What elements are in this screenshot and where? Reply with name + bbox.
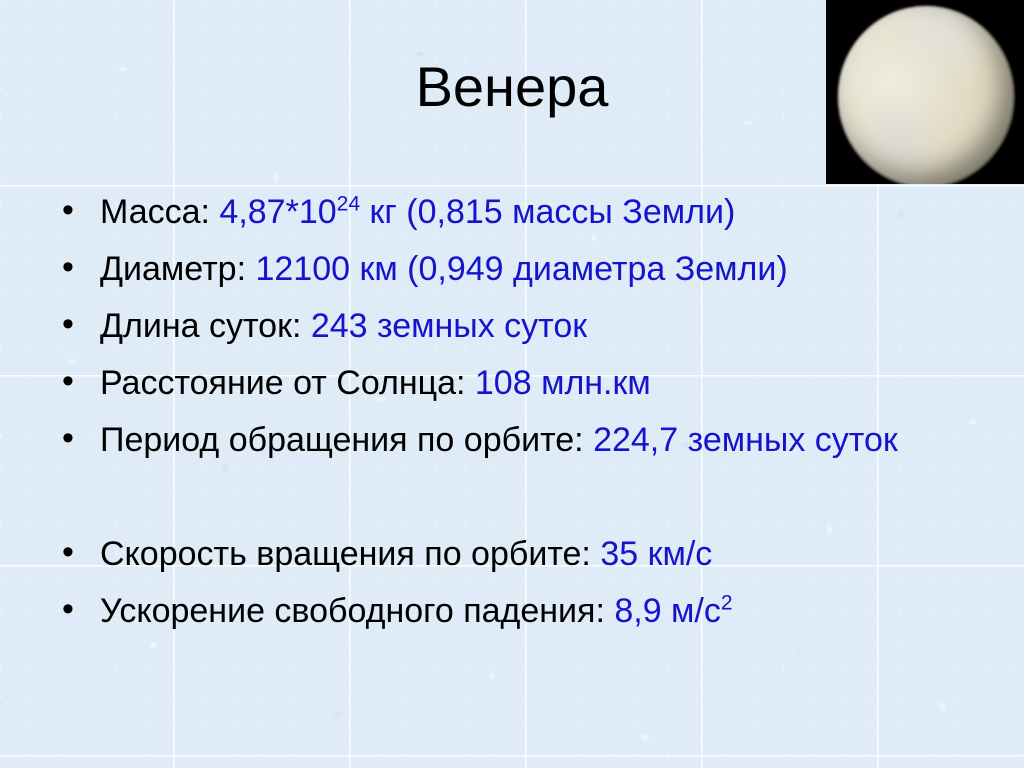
fact-label: Длина суток: bbox=[100, 307, 311, 345]
bullet-marker-icon: • bbox=[56, 241, 100, 293]
fact-value: 8,9 м/с2 bbox=[614, 592, 732, 630]
fact-value: 108 млн.км bbox=[475, 364, 651, 402]
slide-venus: Венера • Масса: 4,87*1024 кг (0,815 масс… bbox=[0, 0, 1024, 768]
fact-mass: Масса: 4,87*1024 кг (0,815 массы Земли) bbox=[100, 184, 956, 240]
list-item: • Ускорение свободного падения: 8,9 м/с2 bbox=[56, 583, 956, 640]
fact-value: 12100 км (0,949 диаметра Земли) bbox=[255, 250, 787, 288]
fact-label: Период обращения по орбите: bbox=[100, 421, 593, 459]
fact-list: • Масса: 4,87*1024 кг (0,815 массы Земли… bbox=[56, 184, 956, 640]
list-item: • Диаметр: 12100 км (0,949 диаметра Земл… bbox=[56, 241, 956, 298]
list-item: • Масса: 4,87*1024 кг (0,815 массы Земли… bbox=[56, 184, 956, 241]
fact-value: 243 земных суток bbox=[311, 307, 587, 345]
list-item: • Скорость вращения по орбите: 35 км/с bbox=[56, 526, 956, 583]
fact-day-length: Длина суток: 243 земных суток bbox=[100, 298, 956, 354]
fact-label: Масса: bbox=[100, 193, 219, 231]
fact-value-tail: кг (0,815 массы Земли) bbox=[360, 193, 735, 231]
fact-orbital-speed: Скорость вращения по орбите: 35 км/с bbox=[100, 526, 956, 582]
fact-surface-gravity: Ускорение свободного падения: 8,9 м/с2 bbox=[100, 583, 956, 639]
bullet-marker-icon: • bbox=[56, 184, 100, 236]
venus-photo bbox=[826, 0, 1024, 184]
bullet-marker-icon: • bbox=[56, 583, 100, 635]
fact-orbital-period: Период обращения по орбите: 224,7 земных… bbox=[100, 412, 956, 468]
fact-distance-from-sun: Расстояние от Солнца: 108 млн.км bbox=[100, 355, 956, 411]
fact-value: 4,87*1024 кг (0,815 массы Земли) bbox=[219, 193, 735, 231]
bullet-marker-icon: • bbox=[56, 526, 100, 578]
fact-label: Диаметр: bbox=[100, 250, 255, 288]
bullet-marker-icon: • bbox=[56, 355, 100, 407]
fact-value-main: 4,87*10 bbox=[219, 193, 336, 231]
fact-value-exponent: 2 bbox=[721, 592, 733, 615]
fact-value-main: 8,9 м/с bbox=[614, 592, 721, 630]
fact-value: 35 км/с bbox=[600, 535, 712, 573]
list-item: • Расстояние от Солнца: 108 млн.км bbox=[56, 355, 956, 412]
bullet-marker-icon: • bbox=[56, 298, 100, 350]
fact-value-exponent: 24 bbox=[337, 193, 360, 216]
bullet-marker-icon: • bbox=[56, 412, 100, 464]
fact-label: Расстояние от Солнца: bbox=[100, 364, 475, 402]
list-item: • Период обращения по орбите: 224,7 земн… bbox=[56, 412, 956, 526]
fact-label: Ускорение свободного падения: bbox=[100, 592, 614, 630]
list-item: • Длина суток: 243 земных суток bbox=[56, 298, 956, 355]
fact-value: 224,7 земных суток bbox=[593, 421, 898, 459]
fact-label: Скорость вращения по орбите: bbox=[100, 535, 600, 573]
fact-diameter: Диаметр: 12100 км (0,949 диаметра Земли) bbox=[100, 241, 956, 297]
venus-planet-shading bbox=[838, 6, 1014, 184]
